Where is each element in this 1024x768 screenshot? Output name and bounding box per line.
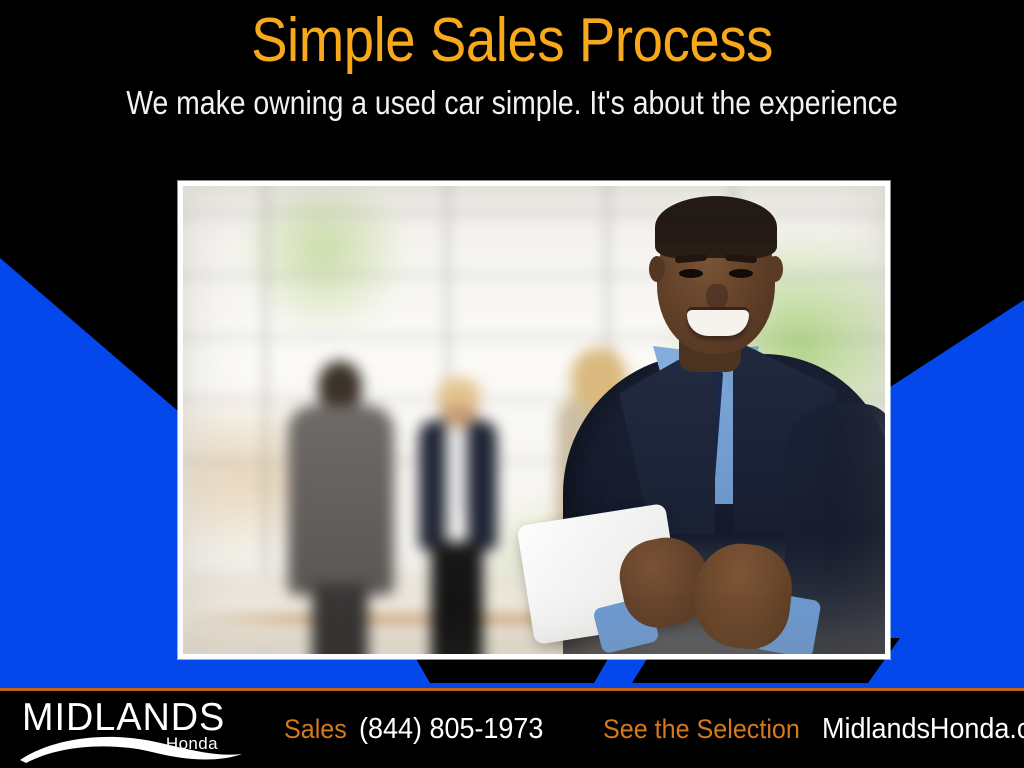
hair — [655, 196, 777, 258]
hero-photo-frame — [178, 181, 890, 659]
background-person-left — [288, 361, 394, 654]
ear-right — [767, 256, 783, 282]
header: Simple Sales Process We make owning a us… — [0, 0, 1024, 150]
eye-left — [679, 269, 703, 278]
slide-canvas: Simple Sales Process We make owning a us… — [0, 0, 1024, 768]
selection-label: See the Selection — [603, 714, 800, 745]
honda-swoosh-icon — [16, 730, 244, 764]
foreground-businessman — [563, 186, 885, 654]
nose — [706, 284, 728, 310]
smile — [687, 310, 749, 336]
footer-bar: MIDLANDS Honda Sales (844) 805-1973 See … — [0, 691, 1024, 768]
brand-logo[interactable]: MIDLANDS Honda — [14, 694, 250, 766]
page-title: Simple Sales Process — [61, 10, 962, 72]
sales-phone[interactable]: (844) 805-1973 — [359, 713, 543, 746]
website-url[interactable]: MidlandsHonda.com — [822, 713, 1024, 746]
footer-contacts: Sales (844) 805-1973 See the Selection M… — [284, 713, 1024, 746]
blue-corner-left — [0, 258, 200, 683]
background-person-center — [419, 382, 497, 654]
eye-right — [729, 269, 753, 278]
hero-photo — [183, 186, 885, 654]
page-subtitle: We make owning a used car simple. It's a… — [72, 86, 953, 119]
sales-label: Sales — [284, 714, 347, 745]
ear-left — [649, 256, 665, 282]
